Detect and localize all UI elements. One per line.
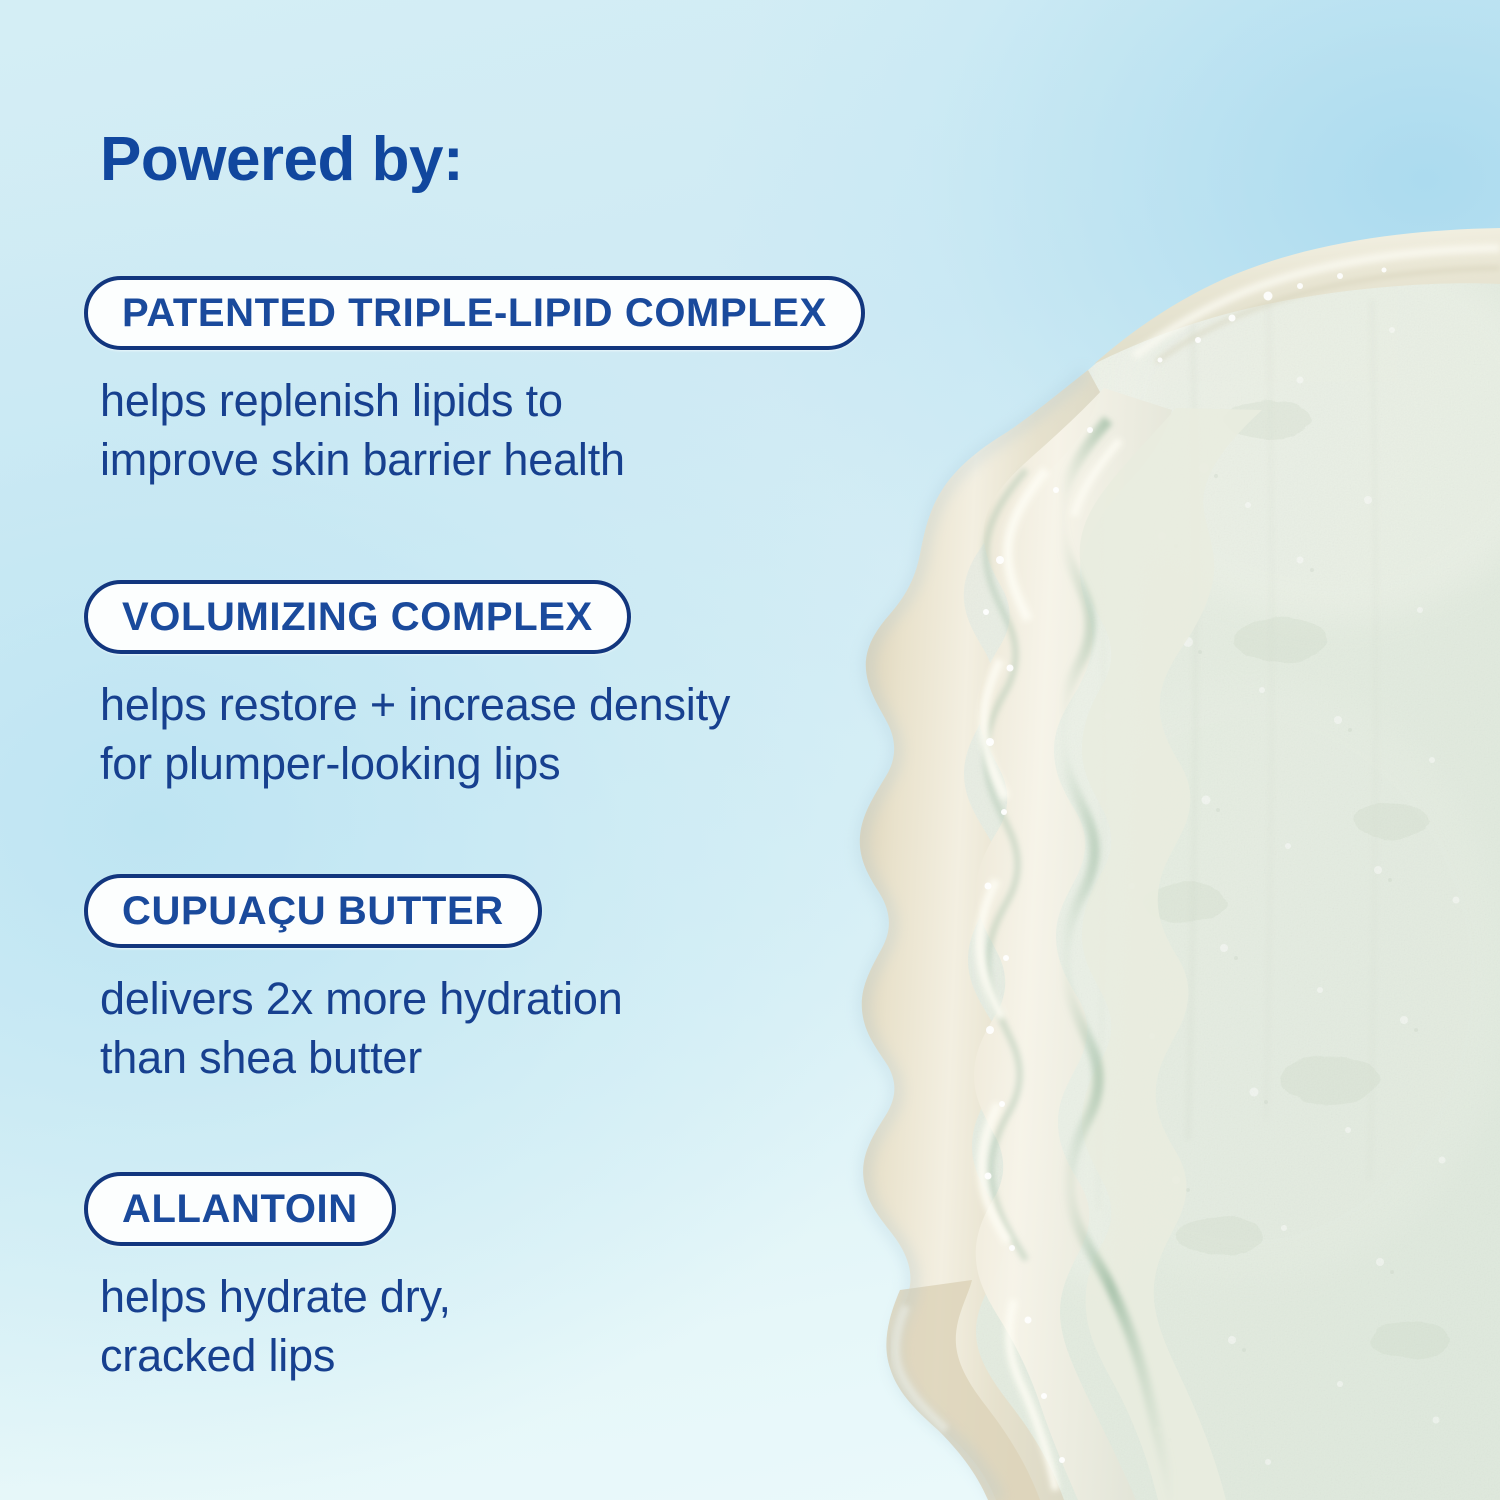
ingredient-list-panel: Powered by: PATENTED TRIPLE-LIPID COMPLE… bbox=[0, 0, 1060, 1500]
ingredient-description: helps restore + increase density for plu… bbox=[100, 676, 730, 793]
ingredient-badge-label: PATENTED TRIPLE-LIPID COMPLEX bbox=[122, 293, 827, 333]
ingredient-description: helps hydrate dry, cracked lips bbox=[100, 1268, 451, 1385]
ingredient-description: delivers 2x more hydration than shea but… bbox=[100, 970, 623, 1087]
ingredient-description: helps replenish lipids to improve skin b… bbox=[100, 372, 865, 489]
ingredient-badge-volumizing-complex: VOLUMIZING COMPLEX bbox=[84, 580, 631, 654]
ingredient-badge-label: ALLANTOIN bbox=[122, 1189, 358, 1229]
ingredient-block: VOLUMIZING COMPLEX helps restore + incre… bbox=[84, 580, 730, 793]
ingredient-badge-label: CUPUAÇU BUTTER bbox=[122, 891, 504, 931]
ingredient-badge-label: VOLUMIZING COMPLEX bbox=[122, 597, 593, 637]
ingredient-block: PATENTED TRIPLE-LIPID COMPLEX helps repl… bbox=[84, 276, 865, 489]
page-title: Powered by: bbox=[100, 124, 463, 195]
infographic-canvas: Powered by: PATENTED TRIPLE-LIPID COMPLE… bbox=[0, 0, 1500, 1500]
ingredient-block: CUPUAÇU BUTTER delivers 2x more hydratio… bbox=[84, 874, 623, 1087]
ingredient-block: ALLANTOIN helps hydrate dry, cracked lip… bbox=[84, 1172, 451, 1385]
ingredient-badge-cupuacu-butter: CUPUAÇU BUTTER bbox=[84, 874, 542, 948]
ingredient-badge-allantoin: ALLANTOIN bbox=[84, 1172, 396, 1246]
ingredient-badge-triple-lipid-complex: PATENTED TRIPLE-LIPID COMPLEX bbox=[84, 276, 865, 350]
